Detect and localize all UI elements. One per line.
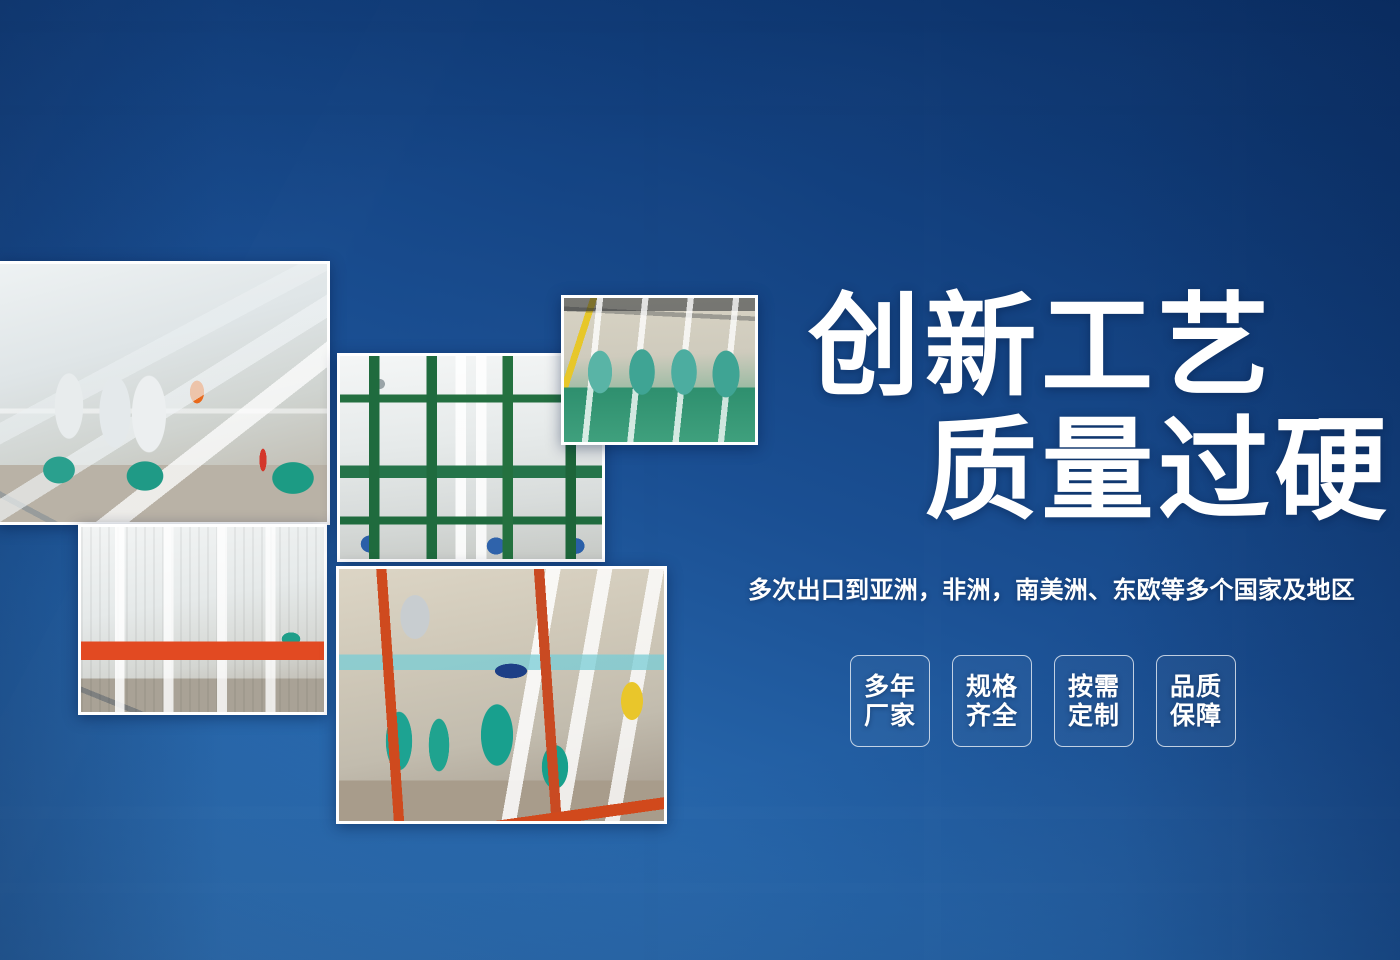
promo-banner: 创新工艺 质量过硬 多次出口到亚洲，非洲，南美洲、东欧等多个国家及地区 多年 厂…: [0, 0, 1400, 960]
headline-line-2: 质量过硬: [925, 412, 1391, 531]
badge-custom-on-demand-line1: 按需: [1068, 672, 1120, 702]
badge-years-manufacturer-line2: 厂家: [864, 701, 916, 731]
headline-line-1: 创新工艺: [808, 288, 1274, 407]
photo-teal-mill-plant-image: [339, 569, 664, 821]
badge-full-specifications-line2: 齐全: [966, 701, 1018, 731]
photo-teal-machines-floor: [561, 295, 758, 445]
badge-years-manufacturer-line1: 多年: [864, 672, 916, 702]
photo-mill-line-conveyor-image: [81, 527, 324, 712]
badge-custom-on-demand[interactable]: 按需 定制: [1054, 655, 1134, 747]
subtitle-text: 多次出口到亚洲，非洲，南美洲、东欧等多个国家及地区: [748, 570, 1355, 605]
photo-teal-mill-plant: [336, 566, 667, 824]
feature-badge-group: 多年 厂家 规格 齐全 按需 定制 品质 保障: [850, 655, 1236, 747]
badge-full-specifications[interactable]: 规格 齐全: [952, 655, 1032, 747]
photo-mill-line-grey: [0, 261, 330, 525]
photo-mill-line-conveyor: [78, 524, 327, 715]
photo-mill-line-grey-image: [0, 264, 327, 522]
badge-custom-on-demand-line2: 定制: [1068, 701, 1120, 731]
badge-quality-guaranteed-line2: 保障: [1170, 701, 1222, 731]
badge-years-manufacturer[interactable]: 多年 厂家: [850, 655, 930, 747]
badge-full-specifications-line1: 规格: [966, 672, 1018, 702]
badge-quality-guaranteed-line1: 品质: [1170, 672, 1222, 702]
photo-teal-machines-floor-image: [564, 298, 755, 442]
badge-quality-guaranteed[interactable]: 品质 保障: [1156, 655, 1236, 747]
